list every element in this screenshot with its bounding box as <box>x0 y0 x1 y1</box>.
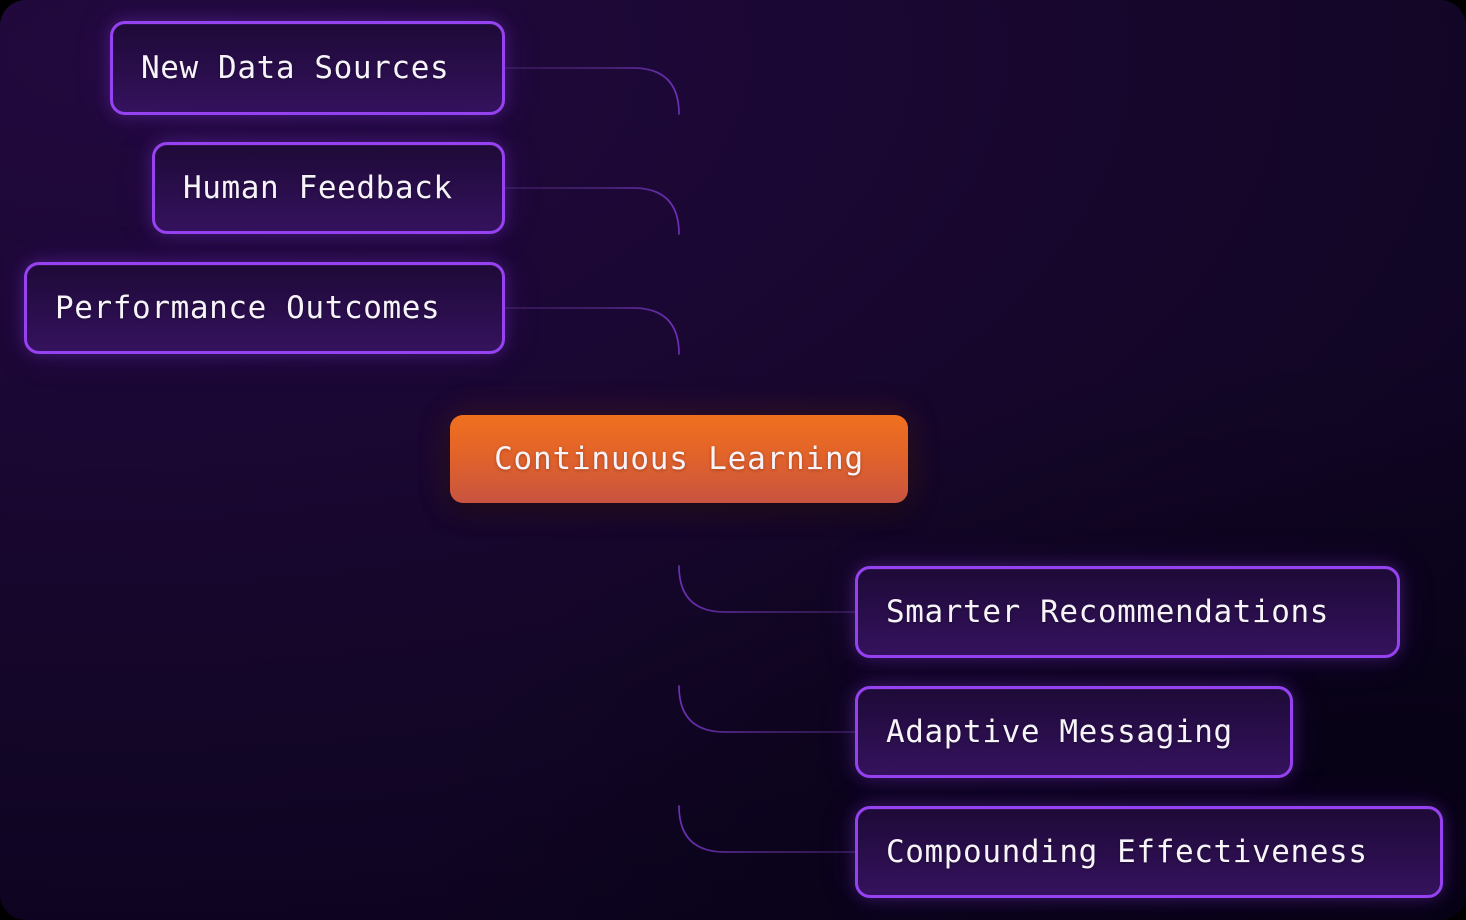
node-label: Performance Outcomes <box>55 293 440 324</box>
node-label: Smarter Recommendations <box>886 597 1329 628</box>
node-performance-outcomes[interactable]: Performance Outcomes <box>24 262 505 354</box>
edge-adaptive-messaging <box>679 686 855 732</box>
node-label: Adaptive Messaging <box>886 717 1233 748</box>
edge-performance-outcomes <box>505 308 679 354</box>
node-adaptive-messaging[interactable]: Adaptive Messaging <box>855 686 1293 778</box>
edge-compounding-effectiveness <box>679 806 855 852</box>
node-human-feedback[interactable]: Human Feedback <box>152 142 505 234</box>
edge-human-feedback <box>505 188 679 234</box>
node-label: Compounding Effectiveness <box>886 837 1368 868</box>
node-continuous-learning[interactable]: Continuous Learning <box>450 415 908 503</box>
node-label: Continuous Learning <box>494 444 864 475</box>
node-label: Human Feedback <box>183 173 453 204</box>
edge-smarter-recommendations <box>679 566 855 612</box>
mindmap-canvas: New Data Sources Human Feedback Performa… <box>0 0 1466 920</box>
node-new-data-sources[interactable]: New Data Sources <box>110 21 505 115</box>
node-smarter-recommendations[interactable]: Smarter Recommendations <box>855 566 1400 658</box>
node-label: New Data Sources <box>141 53 449 84</box>
edge-new-data-sources <box>505 68 679 114</box>
node-compounding-effectiveness[interactable]: Compounding Effectiveness <box>855 806 1443 898</box>
